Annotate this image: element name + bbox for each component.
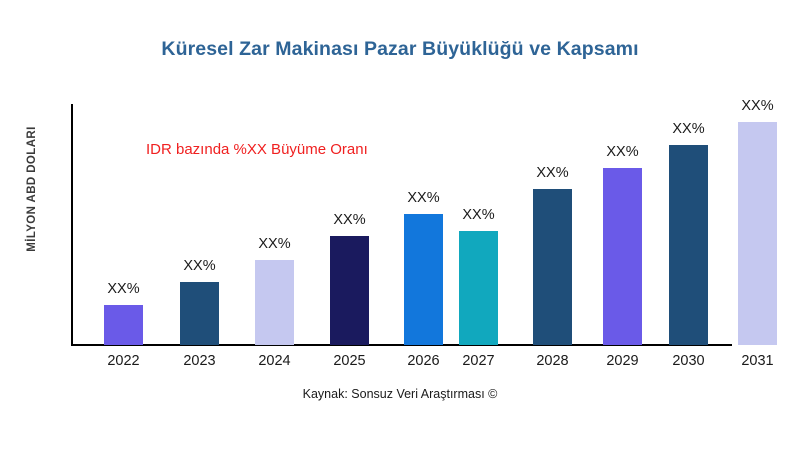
bar-group: XX%: [738, 0, 777, 345]
x-tick-2031: 2031: [738, 345, 777, 369]
bar-2031[interactable]: [738, 122, 777, 345]
bar-group: XX%: [459, 0, 498, 345]
x-tick-label: 2029: [606, 353, 638, 369]
bar-group: XX%: [669, 0, 708, 345]
chart-container: Küresel Zar Makinası Pazar Büyüklüğü ve …: [0, 0, 800, 450]
bar-group: XX%: [180, 0, 219, 345]
x-tick-2024: 2024: [255, 345, 294, 369]
bar-2030[interactable]: [669, 145, 708, 345]
x-tick-label: 2031: [741, 353, 773, 369]
bar-group: XX%: [330, 0, 369, 345]
bar-value-label: XX%: [407, 190, 439, 206]
x-tick-label: 2028: [536, 353, 568, 369]
bar-value-label: XX%: [258, 236, 290, 252]
bar-2026[interactable]: [404, 214, 443, 345]
x-tick-label: 2026: [407, 353, 439, 369]
x-tick-2028: 2028: [533, 345, 572, 369]
x-tick-label: 2030: [672, 353, 704, 369]
plot-area: XX%2022XX%2023XX%2024XX%2025XX%2026XX%20…: [0, 0, 800, 450]
bar-2022[interactable]: [104, 305, 143, 345]
x-tick-label: 2022: [107, 353, 139, 369]
bar-value-label: XX%: [536, 165, 568, 181]
bar-group: XX%: [104, 0, 143, 345]
growth-rate-annotation: IDR bazında %XX Büyüme Oranı: [146, 141, 368, 158]
x-tick-label: 2023: [183, 353, 215, 369]
x-tick-label: 2025: [333, 353, 365, 369]
bar-group: XX%: [603, 0, 642, 345]
bar-group: XX%: [404, 0, 443, 345]
bar-2027[interactable]: [459, 231, 498, 345]
bar-group: XX%: [533, 0, 572, 345]
x-tick-2022: 2022: [104, 345, 143, 369]
x-tick-2030: 2030: [669, 345, 708, 369]
bar-value-label: XX%: [462, 207, 494, 223]
x-tick-2025: 2025: [330, 345, 369, 369]
bar-2023[interactable]: [180, 282, 219, 345]
x-tick-label: 2027: [462, 353, 494, 369]
x-tick-2029: 2029: [603, 345, 642, 369]
bar-value-label: XX%: [672, 121, 704, 137]
x-tick-label: 2024: [258, 353, 290, 369]
source-caption: Kaynak: Sonsuz Veri Araştırması ©: [0, 387, 800, 401]
bar-value-label: XX%: [107, 281, 139, 297]
x-tick-2026: 2026: [404, 345, 443, 369]
bar-value-label: XX%: [606, 144, 638, 160]
bar-2029[interactable]: [603, 168, 642, 345]
bar-2028[interactable]: [533, 189, 572, 345]
x-tick-2023: 2023: [180, 345, 219, 369]
bar-value-label: XX%: [741, 98, 773, 114]
bar-value-label: XX%: [333, 212, 365, 228]
bar-value-label: XX%: [183, 258, 215, 274]
bar-group: XX%: [255, 0, 294, 345]
x-tick-2027: 2027: [459, 345, 498, 369]
bar-2025[interactable]: [330, 236, 369, 345]
bar-2024[interactable]: [255, 260, 294, 345]
